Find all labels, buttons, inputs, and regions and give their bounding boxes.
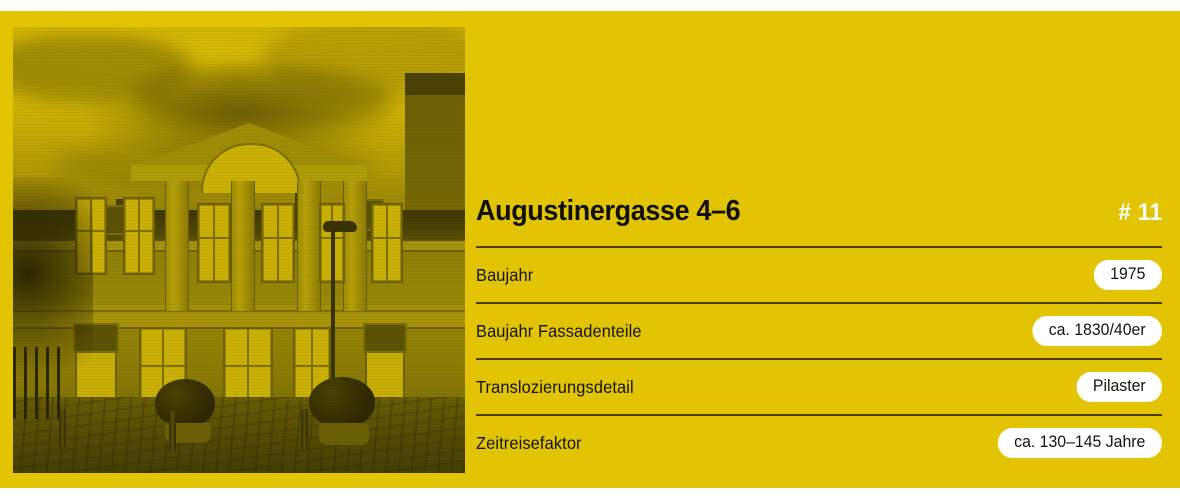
pilaster: [343, 181, 367, 311]
title-row: Augustinergasse 4–6 # 11: [476, 195, 1162, 228]
street-lamp-head: [323, 221, 357, 232]
fanlight-right: [363, 323, 407, 353]
entry-number-badge: # 11: [1118, 199, 1162, 227]
row-value-pill: ca. 1830/40er: [1032, 316, 1162, 346]
pilaster: [165, 181, 189, 311]
shrub: [309, 377, 375, 427]
upper-window: [371, 203, 403, 283]
row-value-pill: Pilaster: [1077, 372, 1162, 402]
facts-table: Baujahr 1975 Baujahr Fassadenteile ca. 1…: [476, 246, 1162, 470]
table-row: Zeitreisefaktor ca. 130–145 Jahre: [476, 414, 1162, 470]
upper-window: [123, 197, 155, 275]
neighbour-roof: [405, 73, 465, 95]
row-value-pill: 1975: [1094, 260, 1162, 290]
info-panel: Augustinergasse 4–6 # 11 Baujahr 1975 Ba…: [476, 27, 1162, 473]
info-card: Augustinergasse 4–6 # 11 Baujahr 1975 Ba…: [0, 11, 1180, 488]
pilaster: [231, 181, 255, 311]
fence: [13, 347, 65, 419]
pilaster: [297, 181, 321, 311]
row-label: Translozierungsdetail: [476, 377, 634, 398]
planter-box: [319, 423, 369, 445]
page-title: Augustinergasse 4–6: [476, 195, 740, 228]
building-photo: [13, 27, 465, 473]
table-row: Translozierungsdetail Pilaster: [476, 358, 1162, 414]
row-label: Zeitreisefaktor: [476, 433, 582, 454]
photo-duotone-layer: [13, 27, 465, 473]
table-row: Baujahr 1975: [476, 246, 1162, 302]
shrub: [155, 379, 215, 427]
row-value-pill: ca. 130–145 Jahre: [998, 428, 1162, 458]
bollard: [169, 411, 176, 451]
upper-window: [261, 203, 295, 283]
bollard: [301, 409, 308, 449]
row-label: Baujahr: [476, 265, 533, 286]
row-label: Baujahr Fassadenteile: [476, 321, 642, 342]
upper-window: [197, 203, 231, 283]
table-row: Baujahr Fassadenteile ca. 1830/40er: [476, 302, 1162, 358]
